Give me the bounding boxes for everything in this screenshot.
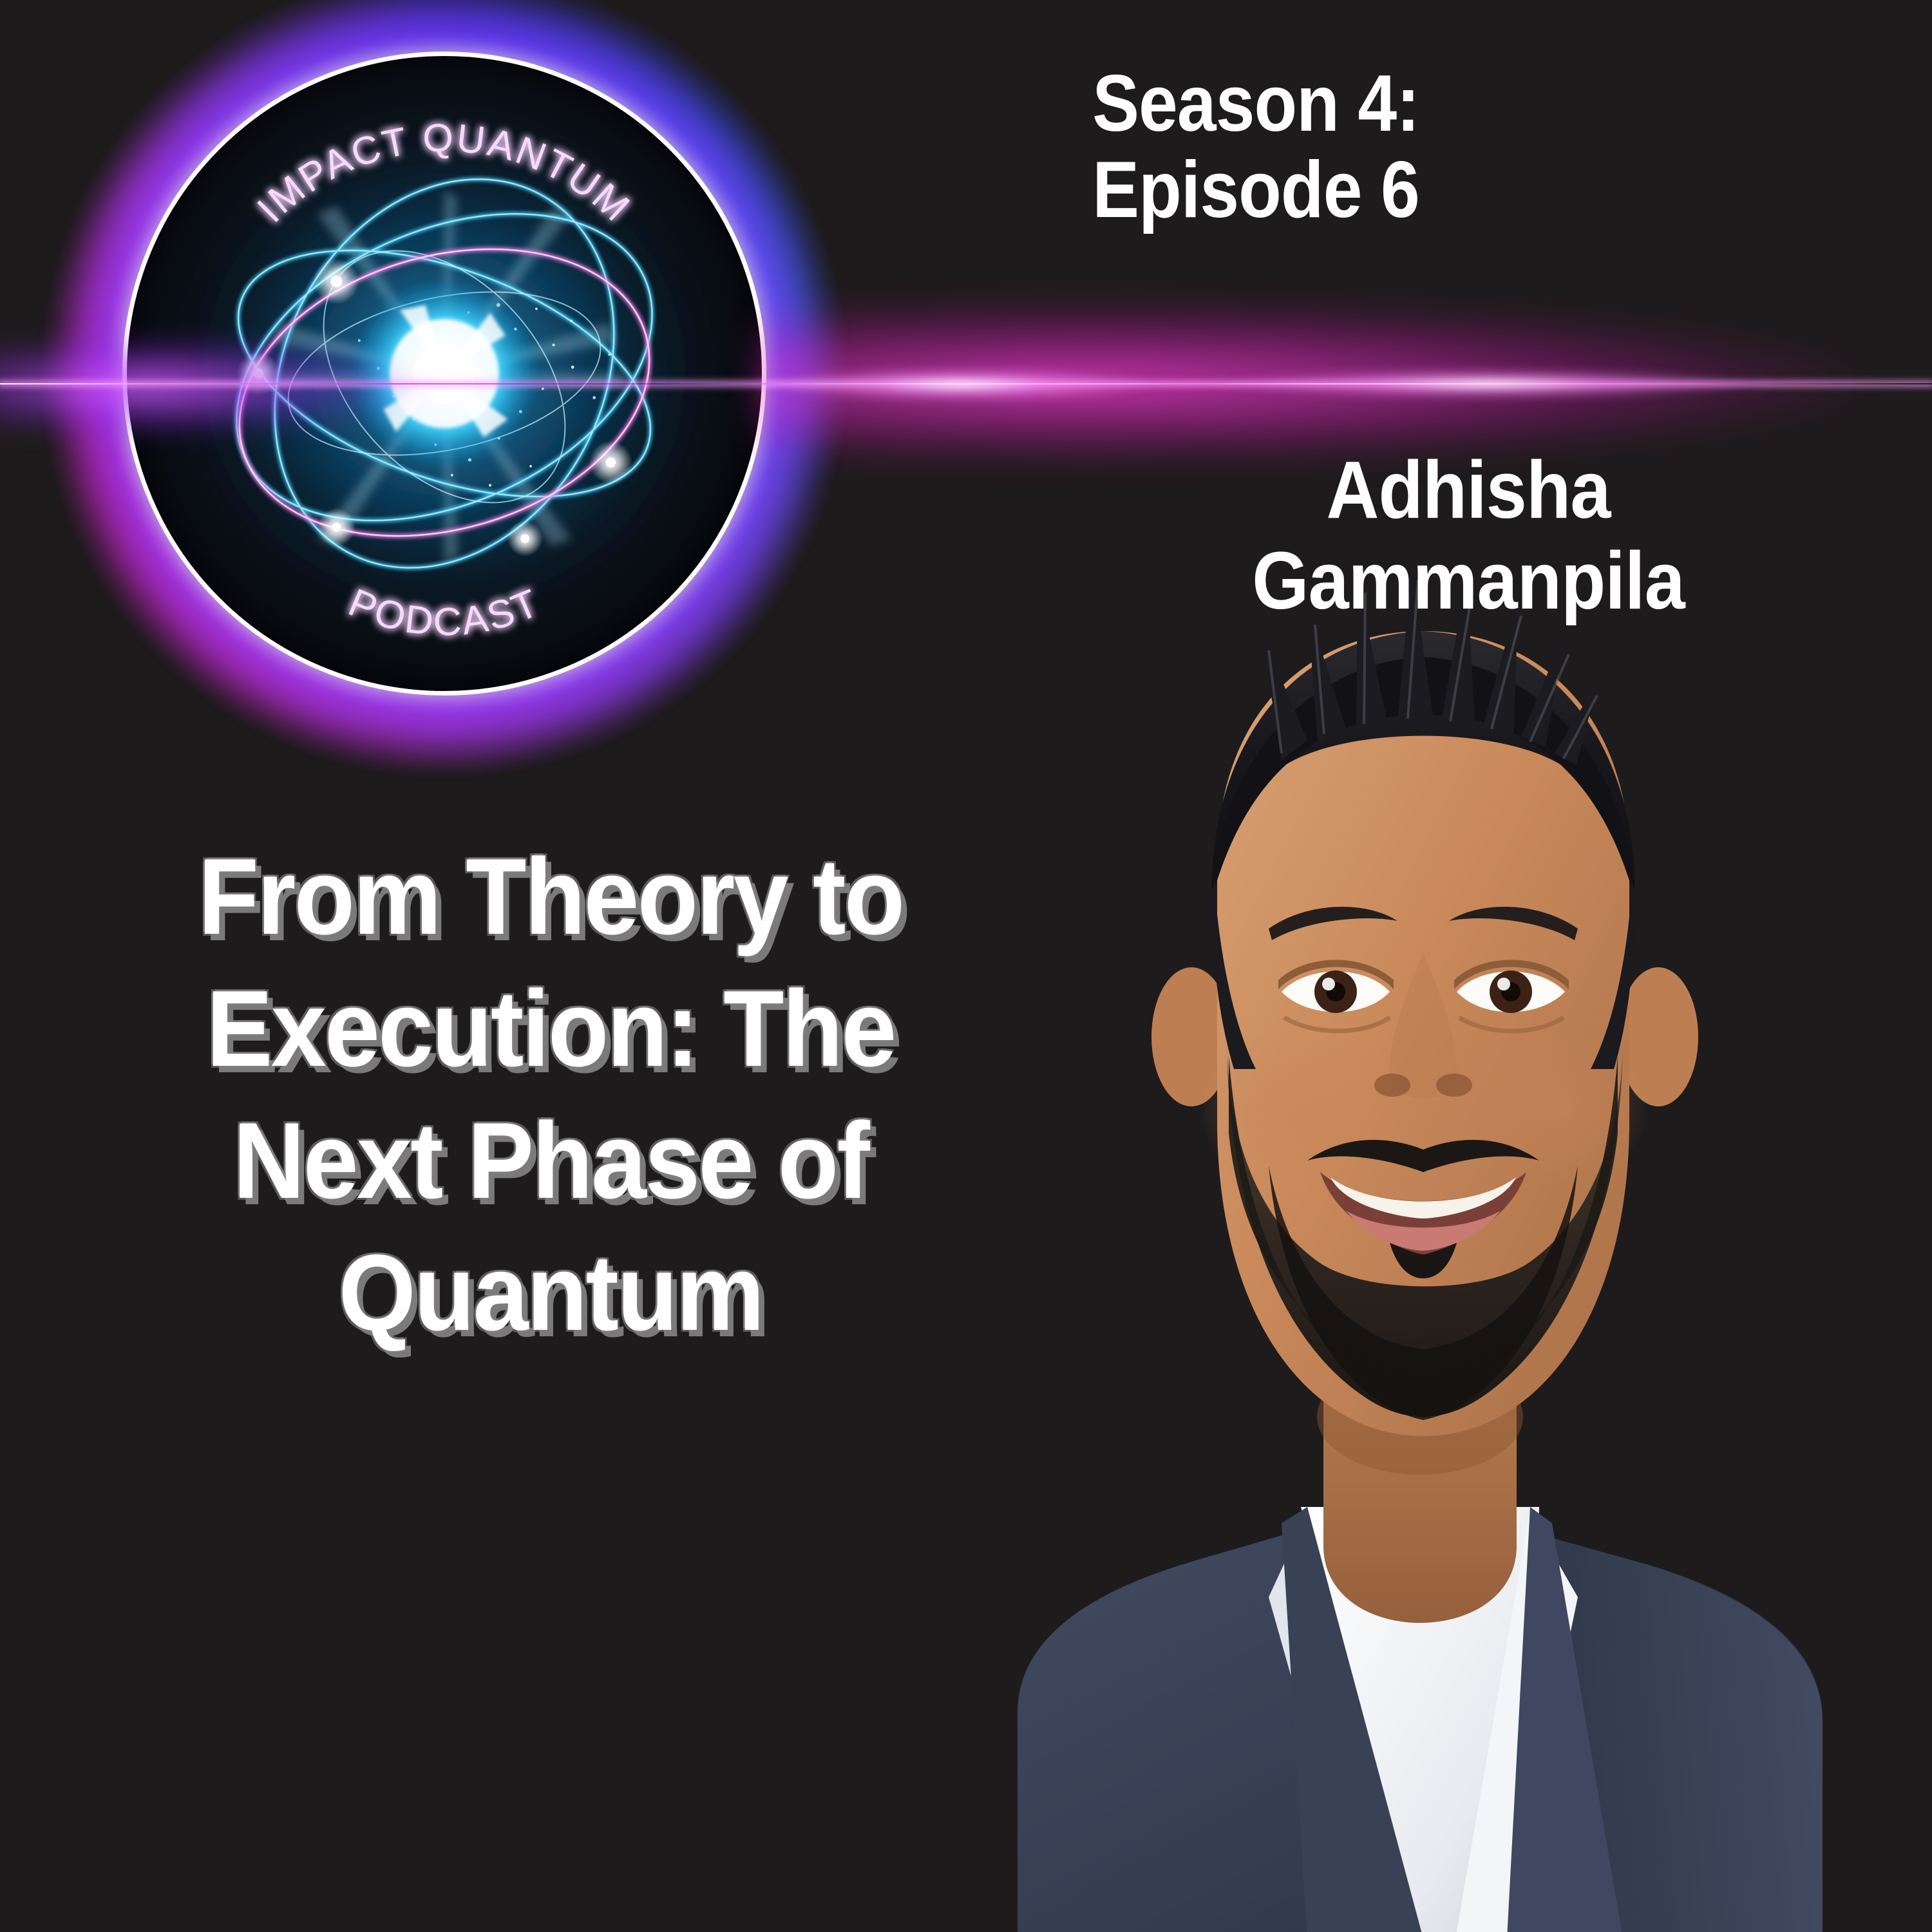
guest-name: Adhisha Gammanpila xyxy=(1051,444,1886,626)
beam-flare-b xyxy=(1224,368,1752,399)
beam-glow-left xyxy=(0,335,425,438)
episode-title: From Theory to Execution: The Next Phase… xyxy=(50,831,1052,1359)
season-episode-label: Season 4: Episode 6 xyxy=(972,61,1539,234)
podcast-cover-art: IMPACT QUANTUM PODCAST Season 4: Episode… xyxy=(0,0,1932,1932)
beam-flare-a xyxy=(760,367,1159,402)
